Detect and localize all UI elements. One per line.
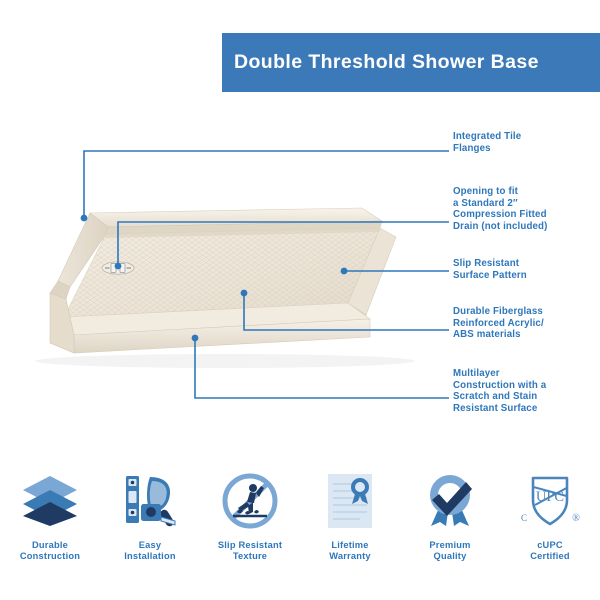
- callout-durable-fiberglass: Durable Fiberglass Reinforced Acrylic/ A…: [453, 306, 544, 341]
- certificate-icon: [322, 468, 378, 534]
- feature-premium-quality: Premium Quality: [400, 468, 500, 588]
- callout-multilayer-construction: Multilayer Construction with a Scratch a…: [453, 368, 546, 414]
- feature-label: Slip Resistant Texture: [218, 540, 282, 562]
- feature-label: cUPC Certified: [530, 540, 570, 562]
- callout-drain-opening: Opening to fit a Standard 2″ Compression…: [453, 186, 548, 232]
- page-title: Double Threshold Shower Base: [234, 51, 539, 74]
- trowel-level-icon: [119, 468, 181, 534]
- upc-right-mark: ®: [572, 513, 580, 524]
- upc-shield-icon: UPC C ®: [519, 468, 581, 534]
- feature-cupc-certified: UPC C ® cUPC Certified: [500, 468, 600, 588]
- infographic-canvas: Double Threshold Shower Base: [0, 0, 600, 600]
- feature-label: Premium Quality: [429, 540, 470, 562]
- feature-label: Lifetime Warranty: [329, 540, 371, 562]
- layers-icon: [19, 468, 81, 534]
- feature-slip-resistant-texture: Slip Resistant Texture: [200, 468, 300, 588]
- feature-durable-construction: Durable Construction: [0, 468, 100, 588]
- feature-label: Durable Construction: [20, 540, 80, 562]
- upc-left-mark: C: [521, 513, 527, 523]
- feature-lifetime-warranty: Lifetime Warranty: [300, 468, 400, 588]
- callout-integrated-tile-flanges: Integrated Tile Flanges: [453, 131, 521, 154]
- feature-badges-row: Durable Construction: [0, 468, 600, 588]
- product-image: [10, 195, 435, 370]
- ribbon-check-icon: [421, 468, 479, 534]
- no-slip-icon: [220, 468, 280, 534]
- drain-opening-marker: [102, 262, 134, 274]
- upc-shield-text: UPC: [536, 489, 564, 505]
- feature-label: Easy Installation: [124, 540, 175, 562]
- header-banner: Double Threshold Shower Base: [222, 33, 600, 92]
- callout-slip-resistant-surface: Slip Resistant Surface Pattern: [453, 258, 527, 281]
- feature-easy-installation: Easy Installation: [100, 468, 200, 588]
